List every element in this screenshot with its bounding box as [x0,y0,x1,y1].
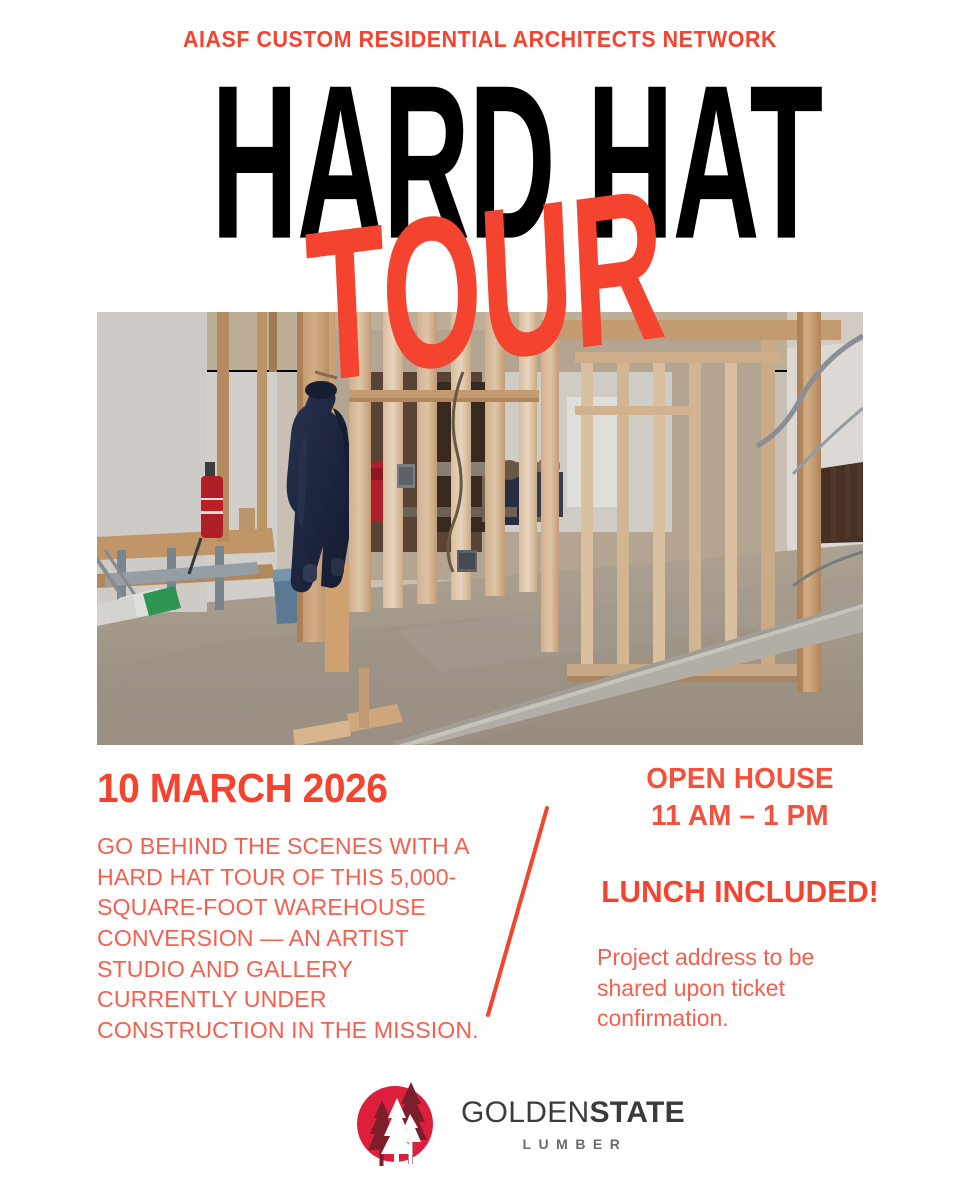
sponsor-subtitle: LUMBER [461,1137,685,1151]
event-date: 10 MARCH 2026 [97,765,472,812]
details-left-column: 10 MARCH 2026 GO BEHIND THE SCENES WITH … [97,765,492,1046]
event-description: GO BEHIND THE SCENES WITH A HARD HAT TOU… [97,831,486,1046]
open-house-time: 11 AM – 1 PM [582,798,899,835]
sponsor-logo: GOLDENSTATE LUMBER [347,1074,647,1174]
sponsor-name-state: STATE [590,1096,685,1129]
address-note: Project address to be shared upon ticket… [597,942,867,1034]
diagonal-divider [455,800,575,1030]
poster-canvas: AIASF CUSTOM RESIDENTIAL ARCHITECTS NETW… [0,0,960,1200]
details-right-column: OPEN HOUSE 11 AM – 1 PM LUNCH INCLUDED! … [575,761,905,1034]
lunch-included-note: LUNCH INCLUDED! [582,874,899,910]
open-house-block: OPEN HOUSE 11 AM – 1 PM [582,761,899,835]
redwood-trees-in-circle-icon [347,1074,447,1174]
sponsor-logo-text: GOLDENSTATE LUMBER [461,1098,685,1151]
open-house-label: OPEN HOUSE [582,761,899,798]
sponsor-name-golden: GOLDEN [461,1096,590,1129]
sponsor-name: GOLDENSTATE [461,1098,685,1128]
